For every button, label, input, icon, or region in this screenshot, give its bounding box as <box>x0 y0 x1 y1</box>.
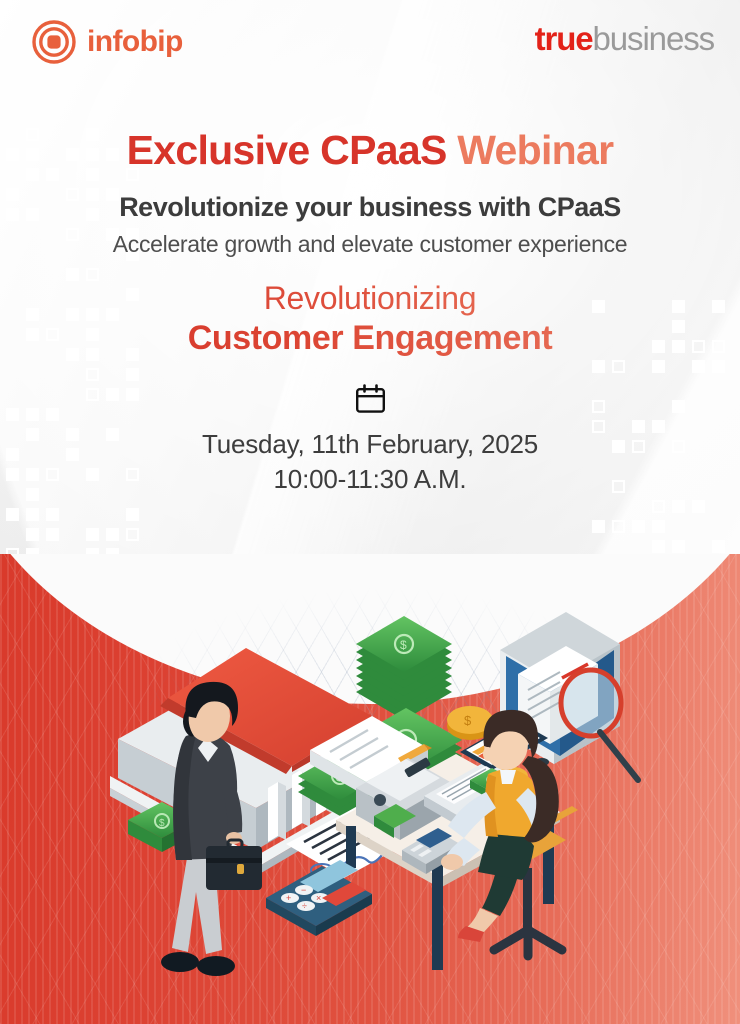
page-title: Exclusive CPaaS Webinar <box>0 126 740 174</box>
tagline: Accelerate growth and elevate customer e… <box>0 231 740 259</box>
headline-primary: Exclusive CPaaS <box>127 127 447 173</box>
webinar-poster: infobip truebusiness Exclusive CPaaS Web… <box>0 0 740 1024</box>
briefcase <box>206 840 262 890</box>
magnifying-glass <box>561 670 638 780</box>
svg-text:÷: ÷ <box>302 901 307 911</box>
theme-line-1: Revolutionizing <box>0 280 740 318</box>
headline-accent: Webinar <box>447 127 614 173</box>
infobip-logo[interactable]: infobip <box>32 20 183 64</box>
event-date: Tuesday, 11th February, 2025 <box>0 427 740 462</box>
theme-line-2: Customer Engagement <box>0 318 740 358</box>
theme-block: Revolutionizing Customer Engagement <box>0 280 740 358</box>
poster-content: Exclusive CPaaS Webinar Revolutionize yo… <box>0 126 740 496</box>
subheadline: Revolutionize your business with CPaaS <box>0 191 740 223</box>
svg-text:$: $ <box>400 638 407 652</box>
true-wordmark: true <box>535 20 593 57</box>
poster-header: infobip truebusiness <box>0 0 740 88</box>
calculator: + − ÷ × <box>266 860 372 936</box>
svg-text:$: $ <box>464 713 472 728</box>
svg-text:$: $ <box>159 818 165 829</box>
true-business-logo[interactable]: truebusiness <box>535 22 714 55</box>
business-wordmark: business <box>593 20 714 57</box>
calendar-icon <box>355 384 386 414</box>
infobip-target-icon <box>32 20 76 64</box>
event-time: 10:00-11:30 A.M. <box>0 462 740 497</box>
finance-illustration: $ $ <box>0 520 740 1024</box>
calendar-icon-wrap <box>0 384 740 414</box>
svg-text:×: × <box>316 893 321 903</box>
svg-text:+: + <box>286 893 291 903</box>
svg-text:−: − <box>301 885 306 895</box>
infobip-wordmark: infobip <box>87 27 183 57</box>
schedule-block: Tuesday, 11th February, 2025 10:00-11:30… <box>0 427 740 496</box>
